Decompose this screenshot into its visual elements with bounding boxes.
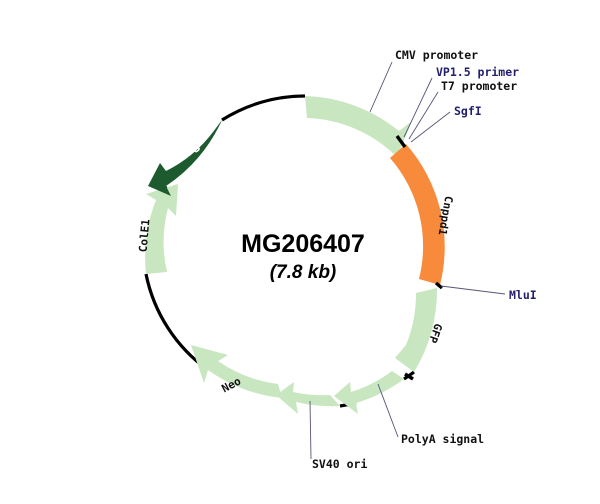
feature-cnppd1[interactable]: Cnppd1 <box>390 144 455 285</box>
callout-sv40-ori[interactable]: SV40 ori <box>312 457 367 471</box>
feature-amp[interactable]: Amp <box>148 120 222 196</box>
callout-t7-promoter[interactable]: T7 promoter <box>441 79 517 93</box>
callout-mlui[interactable]: MluI <box>509 288 537 302</box>
mlui-tick <box>436 283 442 288</box>
feature-cole1[interactable]: ColE1 <box>137 184 178 274</box>
feature-neo[interactable]: Neo <box>191 345 282 398</box>
feature-sv40-ori[interactable] <box>276 382 340 414</box>
callout-sgfi[interactable]: SgfI <box>454 104 482 118</box>
feature-cmv-promoter[interactable] <box>305 96 412 157</box>
leader-polya-signal <box>378 384 398 437</box>
plasmid-map: Cnppd1 GFP Neo ColE1 Amp <box>0 0 600 504</box>
feature-polya-signal[interactable] <box>334 371 404 414</box>
callout-polya-signal[interactable]: PolyA signal <box>401 432 484 446</box>
callout-cmv-promoter[interactable]: CMV promoter <box>395 48 478 62</box>
leader-mlui <box>441 286 505 294</box>
feature-gfp[interactable]: GFP <box>395 288 445 372</box>
plasmid-size: (7.8 kb) <box>270 262 337 283</box>
leader-cmv-promoter <box>370 62 392 112</box>
leader-sv40-ori <box>310 401 311 459</box>
leader-vp15-primer <box>404 78 432 137</box>
callout-vp15-primer[interactable]: VP1.5 primer <box>436 65 519 79</box>
plasmid-title: MG206407 <box>241 230 365 258</box>
